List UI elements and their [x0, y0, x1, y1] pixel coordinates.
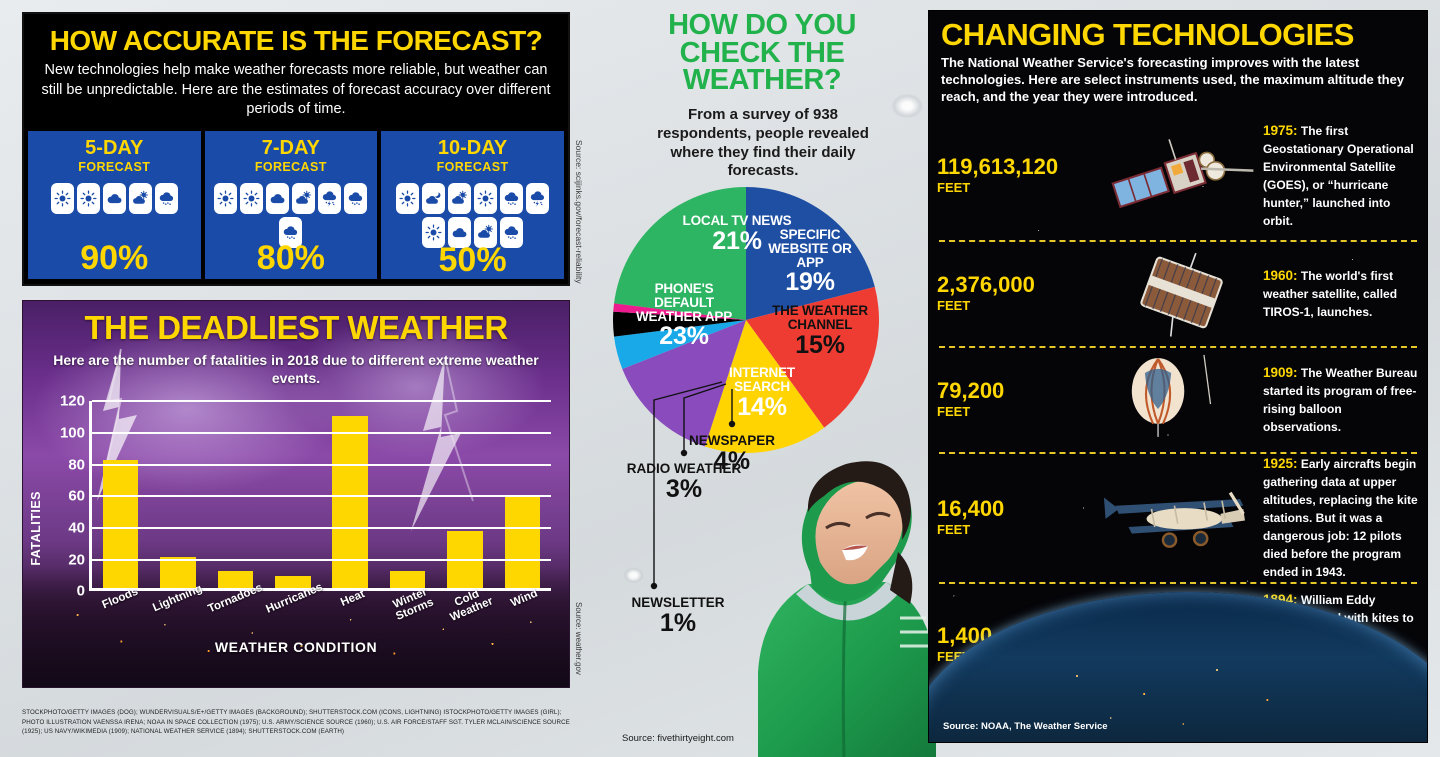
photo-credits: STOCKPHOTO/GETTY IMAGES (DOG); WUNDERVIS…: [22, 708, 578, 737]
x-tick-label: Heat: [339, 589, 371, 621]
bar: [103, 460, 139, 588]
technology-description: 1909: The Weather Bureau started its pro…: [1263, 364, 1427, 436]
chart-plot-area: 020406080100120: [89, 401, 551, 591]
gridline: [92, 400, 551, 402]
newsletter-pct: 1%: [600, 610, 756, 636]
sun-icon: [77, 183, 100, 214]
forecast-card-percent: 90%: [28, 241, 201, 275]
x-axis-tick-labels: FloodsLightningTornadoesHurricanesHeatWi…: [89, 593, 551, 617]
technology-year: 1960:: [1263, 268, 1298, 283]
technology-row-1975: 119,613,120 FEET 1975: The first Geostat…: [929, 112, 1427, 240]
weather-balloon-icon: [1099, 348, 1263, 452]
altitude-block: 79,200 FEET: [929, 380, 1099, 419]
bar: [332, 416, 368, 589]
altitude-value: 2,376,000: [937, 274, 1099, 296]
altitude-block: 119,613,120 FEET: [929, 156, 1099, 195]
technologies-title: CHANGING TECHNOLOGIES: [929, 11, 1427, 50]
gridline: [92, 464, 551, 466]
x-tick-cell: Floods: [89, 593, 146, 617]
sun-icon: [51, 183, 74, 214]
technologies-source: Source: NOAA, The Weather Service: [943, 721, 1108, 732]
x-tick-cell: Hurricanes: [262, 593, 322, 617]
altitude-value: 119,613,120: [937, 156, 1099, 178]
x-tick-cell: Heat: [322, 593, 379, 617]
leader-dot-newsletter: [651, 583, 657, 589]
y-tick-20: 20: [68, 551, 85, 568]
forecast-icon-strip: [35, 183, 194, 214]
sun-icon: [474, 183, 497, 214]
radio-pct: 3%: [614, 476, 754, 502]
cloud-icon: [103, 183, 126, 214]
newsletter-label: NEWSLETTER: [600, 596, 756, 610]
infographic-root: HOW ACCURATE IS THE FORECAST? New techno…: [0, 0, 1440, 757]
leader-dot-newspaper: [729, 421, 735, 427]
storm-cloud-icon: [526, 183, 549, 214]
forecast-source: Source: scijinks.gov/forecast-reliabilit…: [574, 140, 584, 284]
gridline: [92, 559, 551, 561]
forecast-accuracy-panel: HOW ACCURATE IS THE FORECAST? New techno…: [22, 12, 570, 286]
technology-year: 1975:: [1263, 123, 1298, 138]
forecast-card-word: FORECAST: [437, 160, 509, 174]
pie-outside-label-radio: RADIO WEATHER 3%: [614, 462, 754, 502]
technology-year: 1925:: [1263, 456, 1298, 471]
forecast-card-day: 5-DAY: [85, 138, 143, 158]
biplane-icon: [1099, 454, 1263, 582]
forecast-card-10-day: 10-DAYFORECAST 50%: [381, 131, 564, 279]
newspaper-label: NEWSPAPER: [652, 434, 812, 448]
forecast-subtitle: New technologies help make weather forec…: [38, 61, 554, 118]
forecast-title: HOW ACCURATE IS THE FORECAST?: [38, 26, 554, 55]
sun-icon: [240, 183, 263, 214]
cloud-icon: [266, 183, 289, 214]
gridline: [92, 495, 551, 497]
technology-description: 1975: The first Geostationary Operationa…: [1263, 122, 1427, 230]
gridline: [92, 527, 551, 529]
tiros-satellite-icon: [1099, 242, 1263, 346]
forecast-icon-strip: [394, 183, 551, 248]
forecast-card-word: FORECAST: [78, 160, 150, 174]
y-tick-100: 100: [60, 425, 85, 442]
forecast-card-day: 7-DAY: [262, 138, 320, 158]
deadliest-weather-panel: THE DEADLIEST WEATHER Here are the numbe…: [22, 300, 570, 688]
technology-row-1925: 16,400 FEET 1925: Early aircrafts begin …: [929, 454, 1427, 582]
forecast-card-day: 10-DAY: [438, 138, 507, 158]
moon-cloud-icon: [422, 183, 445, 214]
x-tick-cell: Winter Storms: [379, 593, 436, 617]
x-tick-cell: Cold Weather: [436, 593, 493, 617]
x-tick-label: Wind: [509, 588, 544, 621]
forecast-card-word: FORECAST: [255, 160, 327, 174]
forecast-card-5-day: 5-DAYFORECAST 90%: [28, 131, 201, 279]
changing-technologies-panel: CHANGING TECHNOLOGIES The National Weath…: [928, 10, 1428, 743]
rain-cloud-icon: [344, 183, 367, 214]
x-tick-cell: Tornadoes: [204, 593, 262, 617]
pie-title-line3: WEATHER?: [683, 64, 841, 96]
bar: [505, 497, 541, 589]
left-column: HOW ACCURATE IS THE FORECAST? New techno…: [22, 12, 570, 702]
rain-cloud-icon: [500, 183, 523, 214]
altitude-value: 16,400: [937, 498, 1099, 520]
x-tick-cell: Lightning: [146, 593, 203, 617]
technology-row-1909: 79,200 FEET 1909: The Weather Bureau sta…: [929, 348, 1427, 452]
pie-source: Source: fivethirtyeight.com: [622, 733, 734, 745]
forecast-card-percent: 50%: [381, 243, 564, 277]
technology-body: The first Geostationary Operational Envi…: [1263, 124, 1414, 228]
y-tick-80: 80: [68, 456, 85, 473]
altitude-value: 79,200: [937, 380, 1099, 402]
altitude-block: 2,376,000 FEET: [929, 274, 1099, 313]
x-tick-label: Floods: [100, 586, 144, 623]
forecast-card-percent: 80%: [205, 241, 378, 275]
technology-description: 1925: Early aircrafts begin gathering da…: [1263, 455, 1427, 581]
y-tick-120: 120: [60, 393, 85, 410]
y-tick-40: 40: [68, 520, 85, 537]
forecast-header: HOW ACCURATE IS THE FORECAST? New techno…: [24, 14, 568, 127]
pie-panel-title: HOW DO YOU CHECK THE WEATHER?: [644, 12, 880, 95]
deadliest-subtitle: Here are the number of fatalities in 201…: [23, 351, 569, 387]
technology-description: 1960: The world's first weather satellit…: [1263, 267, 1427, 321]
y-axis-label: FATALITIES: [29, 491, 43, 566]
y-tick-0: 0: [77, 583, 85, 600]
gridline: [92, 432, 551, 434]
technologies-subtitle: The National Weather Service's forecasti…: [929, 50, 1427, 106]
altitude-unit: FEET: [937, 298, 1099, 313]
fatalities-bar-chart: FATALITIES 020406080100120 FloodsLightni…: [23, 395, 569, 659]
bar: [160, 557, 196, 589]
altitude-unit: FEET: [937, 522, 1099, 537]
technology-body: Early aircrafts begin gathering data at …: [1263, 457, 1418, 579]
goes-satellite-icon: [1099, 112, 1263, 240]
rain-cloud-icon: [155, 183, 178, 214]
pie-panel-subtitle: From a survey of 938 respondents, people…: [644, 106, 882, 181]
weather-source-pie-chart: PHONE'S DEFAULT WEATHER APP23%LOCAL TV N…: [608, 186, 912, 456]
altitude-block: 16,400 FEET: [929, 498, 1099, 537]
x-axis-label: WEATHER CONDITION: [23, 639, 569, 655]
middle-column: HOW DO YOU CHECK THE WEATHER? From a sur…: [600, 0, 920, 757]
sun-cloud-icon: [448, 183, 471, 214]
deadliest-title: THE DEADLIEST WEATHER: [23, 301, 569, 344]
sun-icon: [396, 183, 419, 214]
sun-icon: [214, 183, 237, 214]
radio-label: RADIO WEATHER: [614, 462, 754, 476]
bar: [390, 571, 426, 588]
altitude-unit: FEET: [937, 180, 1099, 195]
sun-cloud-icon: [292, 183, 315, 214]
deadliest-source: Source: weather.gov: [574, 602, 583, 675]
forecast-cards: 5-DAYFORECAST 90%7-DAYFORECAST 80%10-DAY…: [24, 127, 568, 279]
sun-cloud-icon: [129, 183, 152, 214]
x-tick-cell: Wind: [494, 593, 551, 617]
technology-year: 1909:: [1263, 365, 1298, 380]
forecast-card-7-day: 7-DAYFORECAST 80%: [205, 131, 378, 279]
altitude-unit: FEET: [937, 404, 1099, 419]
technology-row-1960: 2,376,000 FEET 1960: The world's first w…: [929, 242, 1427, 346]
storm-cloud-icon: [318, 183, 341, 214]
pie-outside-label-newsletter: NEWSLETTER 1%: [600, 596, 756, 636]
y-tick-60: 60: [68, 488, 85, 505]
